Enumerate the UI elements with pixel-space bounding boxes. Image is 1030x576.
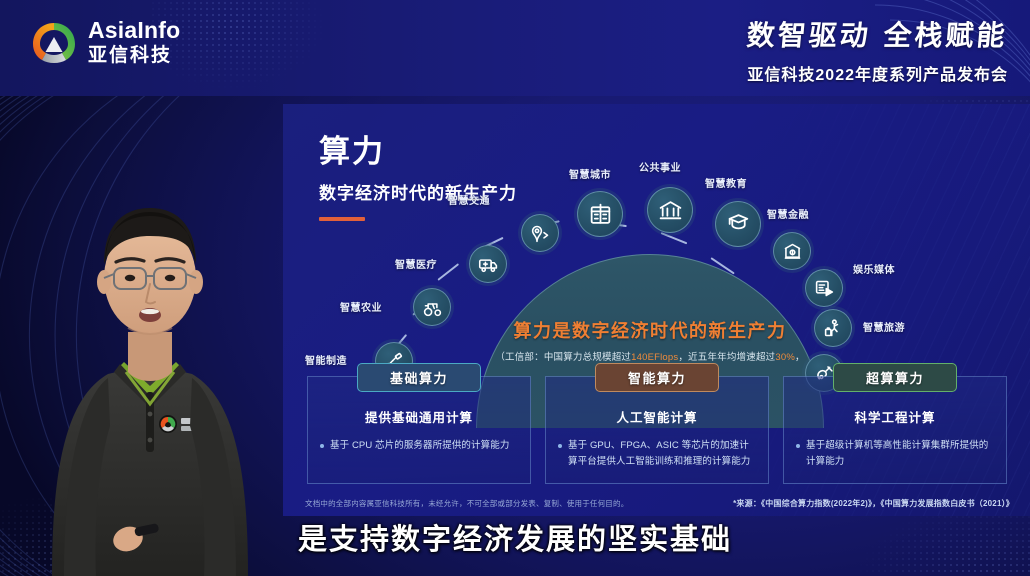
- slide-footer: 文档中的全部内容属亚信科技所有，未经允许，不可全部或部分发表、复制、使用于任何目…: [305, 498, 1014, 509]
- node-public-utilities[interactable]: [647, 187, 693, 233]
- presentation-slide: 算力 数字经济时代的新生产力 算力是数字经济时代的新生产力 （工信部：中国算力总…: [283, 104, 1030, 516]
- card-heading-supercomputing: 科学工程计算: [784, 407, 1006, 426]
- node-label-smart-city: 智慧城市: [569, 166, 611, 181]
- card-heading-intelligent: 人工智能计算: [546, 407, 768, 426]
- node-entertainment-media[interactable]: [805, 269, 843, 307]
- bullet-dot-icon: [796, 444, 800, 448]
- node-smart-city[interactable]: [577, 191, 623, 237]
- node-connector: [661, 232, 688, 244]
- node-label-entertainment-media: 娱乐媒体: [853, 261, 895, 276]
- ambulance-icon: [478, 254, 499, 275]
- brand-logo: AsiaInfo 亚信科技: [30, 18, 180, 66]
- node-smart-transport[interactable]: [521, 214, 559, 252]
- event-subtitle: 亚信科技2022年度系列产品发布会: [747, 61, 1008, 85]
- card-bullet-supercomputing: 基于超级计算机等高性能计算集群所提供的计算能力: [784, 438, 1006, 469]
- title-underline: [319, 217, 365, 221]
- bullet-dot-icon: [558, 444, 562, 448]
- node-label-smart-education: 智慧教育: [705, 175, 747, 190]
- node-smart-tourism[interactable]: [814, 309, 852, 347]
- node-smart-education[interactable]: [715, 201, 761, 247]
- node-label-smart-finance: 智慧金融: [767, 206, 809, 221]
- brand-name-en: AsiaInfo: [88, 19, 180, 42]
- card-chip-basic: 基础算力: [357, 363, 481, 392]
- source-note: *来源：《中国综合算力指数(2022年2)》，《中国算力发展指数白皮书（2021…: [733, 498, 1014, 509]
- card-basic-compute: 基础算力 提供基础通用计算 基于 CPU 芯片的服务器所提供的计算能力: [307, 376, 531, 484]
- dome-note-stat-1: 140EFlops: [631, 352, 678, 363]
- node-label-smart-transport: 智慧交通: [448, 192, 490, 207]
- dome-headline: 算力是数字经济时代的新生产力: [477, 317, 823, 343]
- node-label-smart-tourism: 智慧旅游: [863, 319, 905, 334]
- node-label-smart-healthcare: 智慧医疗: [395, 256, 437, 271]
- card-chip-intelligent: 智能算力: [595, 363, 719, 392]
- node-label-smart-agriculture: 智慧农业: [340, 299, 382, 314]
- copyright-notice: 文档中的全部内容属亚信科技所有，未经允许，不可全部或部分发表、复制、使用于任何目…: [305, 498, 628, 509]
- compute-type-cards: 基础算力 提供基础通用计算 基于 CPU 芯片的服务器所提供的计算能力 智能算力…: [307, 376, 1007, 484]
- header-bar: AsiaInfo 亚信科技 数智驱动 全栈赋能 亚信科技2022年度系列产品发布…: [0, 0, 1030, 96]
- graduation-book-icon: [726, 212, 751, 237]
- node-smart-healthcare[interactable]: [469, 245, 507, 283]
- map-pin-icon: [530, 223, 551, 244]
- card-bullet-intelligent: 基于 GPU、FPGA、ASIC 等芯片的加速计算平台提供人工智能训练和推理的计…: [546, 438, 768, 469]
- node-label-smart-manufacturing: 智能制造: [305, 352, 347, 367]
- node-label-public-utilities: 公共事业: [639, 159, 681, 174]
- brand-name-cn: 亚信科技: [88, 46, 180, 65]
- dome-note-1b: ，近五年年均增速超过: [678, 352, 775, 363]
- card-bullet-text-basic: 基于 CPU 芯片的服务器所提供的计算能力: [330, 438, 509, 454]
- asiainfo-triangle-logo-icon: [30, 18, 78, 66]
- tractor-icon: [422, 297, 443, 318]
- event-title-block: 数智驱动 全栈赋能 亚信科技2022年度系列产品发布会: [747, 14, 1008, 85]
- presenter-video: [0, 96, 300, 576]
- traveler-luggage-icon: [823, 318, 844, 339]
- event-slogan: 数智驱动 全栈赋能: [746, 14, 1010, 54]
- slide-title-block: 算力 数字经济时代的新生产力: [319, 136, 517, 221]
- card-chip-supercomputing: 超算算力: [833, 363, 957, 392]
- city-building-icon: [588, 202, 613, 227]
- brand-text: AsiaInfo 亚信科技: [88, 19, 180, 65]
- card-bullet-text-supercomputing: 基于超级计算机等高性能计算集群所提供的计算能力: [806, 438, 994, 469]
- node-smart-finance[interactable]: [773, 232, 811, 270]
- video-frame: AsiaInfo 亚信科技 数智驱动 全栈赋能 亚信科技2022年度系列产品发布…: [0, 0, 1030, 576]
- node-smart-agriculture[interactable]: [413, 288, 451, 326]
- dome-note-stat-2: 30%: [775, 352, 795, 363]
- government-bank-icon: [658, 198, 683, 223]
- card-supercomputing: 超算算力 科学工程计算 基于超级计算机等高性能计算集群所提供的计算能力: [783, 376, 1007, 484]
- bullet-dot-icon: [320, 444, 324, 448]
- card-heading-basic: 提供基础通用计算: [308, 407, 530, 426]
- card-bullet-basic: 基于 CPU 芯片的服务器所提供的计算能力: [308, 438, 530, 454]
- subtitle-caption: 是支持数字经济发展的坚实基础: [0, 516, 1030, 558]
- dome-note-1a: （工信部：中国算力总规模超过: [495, 352, 631, 363]
- dome-note-1c: ，: [795, 352, 805, 363]
- media-play-icon: [814, 278, 835, 299]
- card-intelligent-compute: 智能算力 人工智能计算 基于 GPU、FPGA、ASIC 等芯片的加速计算平台提…: [545, 376, 769, 484]
- card-bullet-text-intelligent: 基于 GPU、FPGA、ASIC 等芯片的加速计算平台提供人工智能训练和推理的计…: [568, 438, 756, 469]
- node-connector: [437, 263, 459, 281]
- slide-title: 算力: [319, 136, 517, 167]
- bank-money-icon: [782, 241, 803, 262]
